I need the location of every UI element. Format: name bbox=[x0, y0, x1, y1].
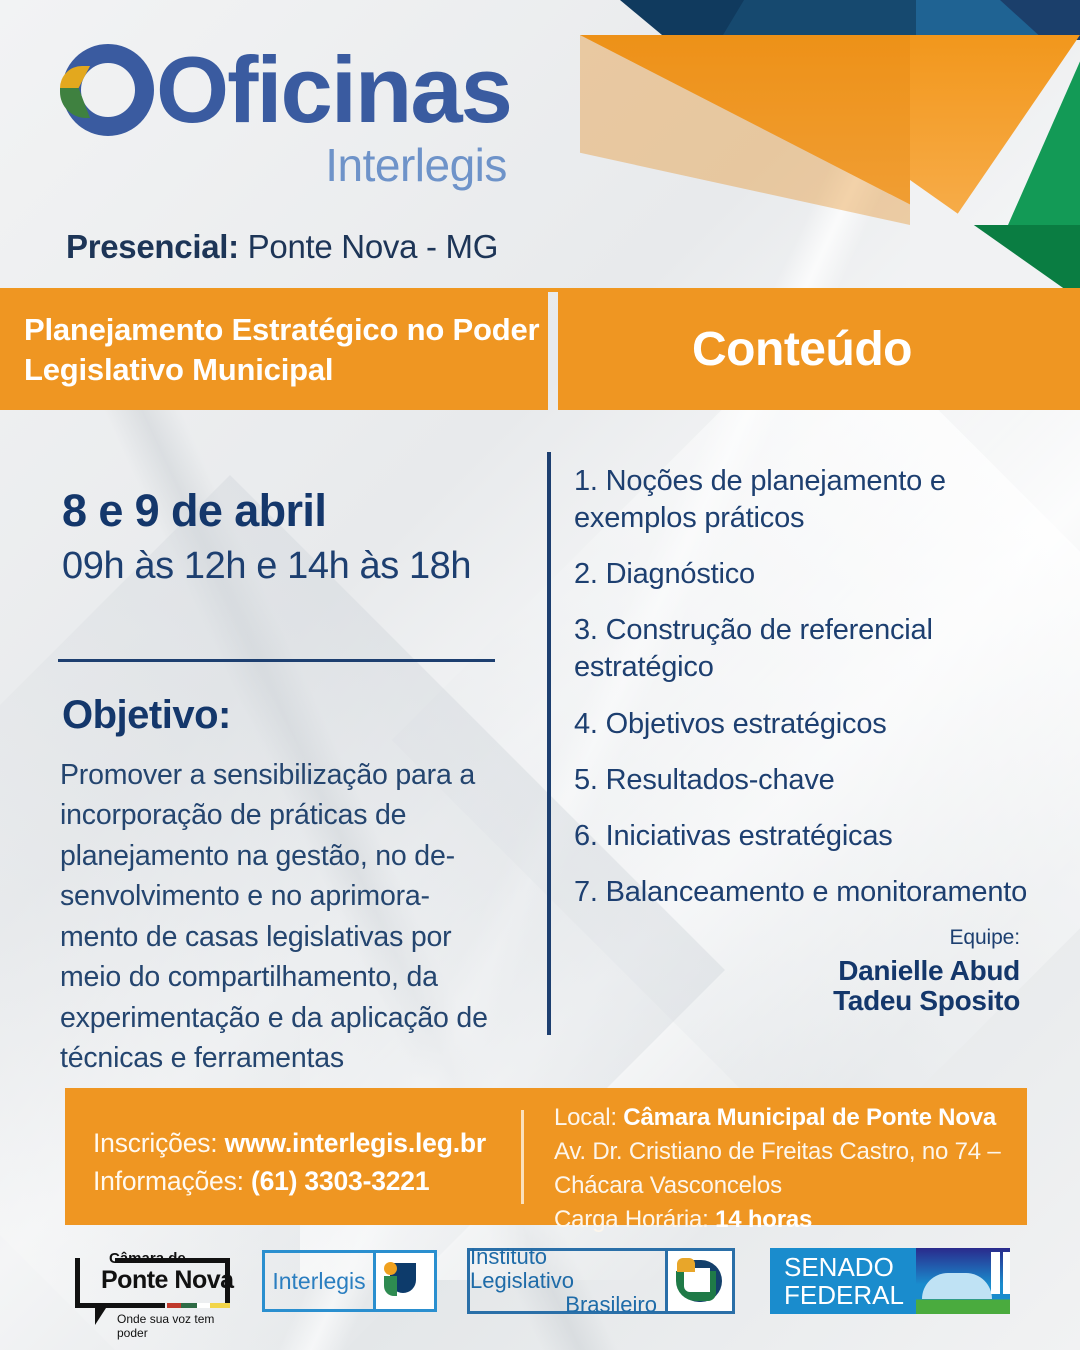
instituto-line-1: Instituto Legislativo bbox=[470, 1245, 657, 1293]
footer-logo-bar: Câmara de Ponte Nova Onde sua voz tem po… bbox=[0, 1240, 1080, 1350]
left-divider bbox=[58, 659, 495, 662]
column-divider bbox=[547, 452, 551, 1035]
instituto-logo-text: Instituto Legislativo Brasileiro bbox=[470, 1251, 665, 1311]
list-item: 1. Noções de planejamento e exemplos prá… bbox=[574, 463, 1044, 537]
interlegis-mark-icon bbox=[373, 1253, 434, 1309]
team-label: Equipe: bbox=[949, 926, 1020, 950]
camara-line-1: Câmara de bbox=[109, 1250, 186, 1267]
list-item: 2. Diagnóstico bbox=[574, 556, 1044, 593]
senado-federal-logo: SENADO FEDERAL bbox=[770, 1248, 1010, 1314]
flag-stripes-icon bbox=[167, 1303, 230, 1308]
camara-line-2: Ponte Nova bbox=[101, 1266, 234, 1295]
interlegis-logo-text: Interlegis bbox=[265, 1253, 373, 1309]
registration-block: Inscrições: www.interlegis.leg.br Inform… bbox=[93, 1124, 486, 1201]
list-item: 3. Construção de referencial estratégico bbox=[574, 612, 1044, 686]
workload-line: Carga Horária: 14 horas bbox=[554, 1203, 1001, 1237]
information-label: Informações: bbox=[93, 1166, 244, 1196]
place-label: Local: bbox=[554, 1104, 617, 1131]
content-list: 1. Noções de planejamento e exemplos prá… bbox=[574, 463, 1044, 930]
senado-logo-text: SENADO FEDERAL bbox=[770, 1248, 916, 1314]
event-date: 8 e 9 de abril bbox=[62, 485, 326, 537]
objective-text: Promover a sensibilização para a incorpo… bbox=[60, 755, 506, 1079]
list-item: 5. Resultados-chave bbox=[574, 762, 1044, 799]
instituto-line-2: Brasileiro bbox=[565, 1293, 657, 1317]
camara-ponte-nova-logo: Câmara de Ponte Nova Onde sua voz tem po… bbox=[75, 1252, 235, 1328]
workload-value: 14 horas bbox=[709, 1206, 813, 1233]
course-title-bar: Planejamento Estratégico no Poder Legisl… bbox=[0, 289, 548, 410]
info-separator bbox=[521, 1110, 524, 1204]
logo-wordmark: Oficinas bbox=[156, 45, 511, 134]
list-item: 6. Iniciativas estratégicas bbox=[574, 818, 1044, 855]
oficinas-ring-icon bbox=[62, 44, 154, 136]
list-item: 7. Balanceamento e monitoramento bbox=[574, 874, 1044, 911]
objective-title: Objetivo: bbox=[62, 693, 231, 738]
senado-line-1: SENADO bbox=[784, 1253, 916, 1281]
logo-subword: Interlegis bbox=[62, 138, 507, 192]
information-line: Informações: (61) 3303-3221 bbox=[93, 1162, 486, 1200]
senado-congress-icon bbox=[916, 1248, 1010, 1314]
camara-slogan: Onde sua voz tem poder bbox=[117, 1312, 235, 1340]
workload-label: Carga Horária: bbox=[554, 1206, 709, 1233]
content-title: Conteúdo bbox=[558, 322, 1080, 377]
info-box: Inscrições: www.interlegis.leg.br Inform… bbox=[65, 1088, 1027, 1225]
modality-label: Presencial: bbox=[66, 228, 239, 265]
course-title: Planejamento Estratégico no Poder Legisl… bbox=[0, 310, 548, 389]
address-line-1: Av. Dr. Cristiano de Freitas Castro, no … bbox=[554, 1135, 1001, 1169]
information-phone: (61) 3303-3221 bbox=[244, 1166, 430, 1196]
event-time: 09h às 12h e 14h às 18h bbox=[62, 545, 471, 588]
interlegis-logo: Interlegis bbox=[262, 1250, 437, 1312]
address-line-2: Chácara Vasconcelos bbox=[554, 1169, 1001, 1203]
team-member-2: Tadeu Sposito bbox=[833, 985, 1020, 1017]
poster-canvas: Planejamento Estratégico no Poder Legisl… bbox=[0, 0, 1080, 1350]
instituto-legislativo-logo: Instituto Legislativo Brasileiro bbox=[467, 1248, 735, 1314]
content-title-bar: Conteúdo bbox=[558, 289, 1080, 410]
geometric-decoration bbox=[580, 0, 1080, 300]
modality-value: Ponte Nova - MG bbox=[239, 228, 498, 265]
team-member-1: Danielle Abud bbox=[838, 955, 1020, 987]
place-value: Câmara Municipal de Ponte Nova bbox=[617, 1104, 996, 1131]
geo-orange-shade bbox=[580, 35, 910, 225]
list-item: 4. Objetivos estratégicos bbox=[574, 706, 1044, 743]
geo-navy-mid bbox=[720, 0, 920, 40]
oficinas-logo: Oficinas Interlegis bbox=[62, 44, 511, 192]
senado-line-2: FEDERAL bbox=[784, 1281, 916, 1309]
venue-line: Local: Câmara Municipal de Ponte Nova bbox=[554, 1101, 1001, 1135]
registration-url[interactable]: www.interlegis.leg.br bbox=[217, 1128, 486, 1158]
registration-line: Inscrições: www.interlegis.leg.br bbox=[93, 1124, 486, 1162]
registration-label: Inscrições: bbox=[93, 1128, 217, 1158]
speech-bubble-tail-icon bbox=[95, 1308, 106, 1325]
venue-block: Local: Câmara Municipal de Ponte Nova Av… bbox=[554, 1101, 1001, 1237]
instituto-mark-icon bbox=[665, 1251, 732, 1311]
modality-line: Presencial: Ponte Nova - MG bbox=[66, 228, 498, 266]
